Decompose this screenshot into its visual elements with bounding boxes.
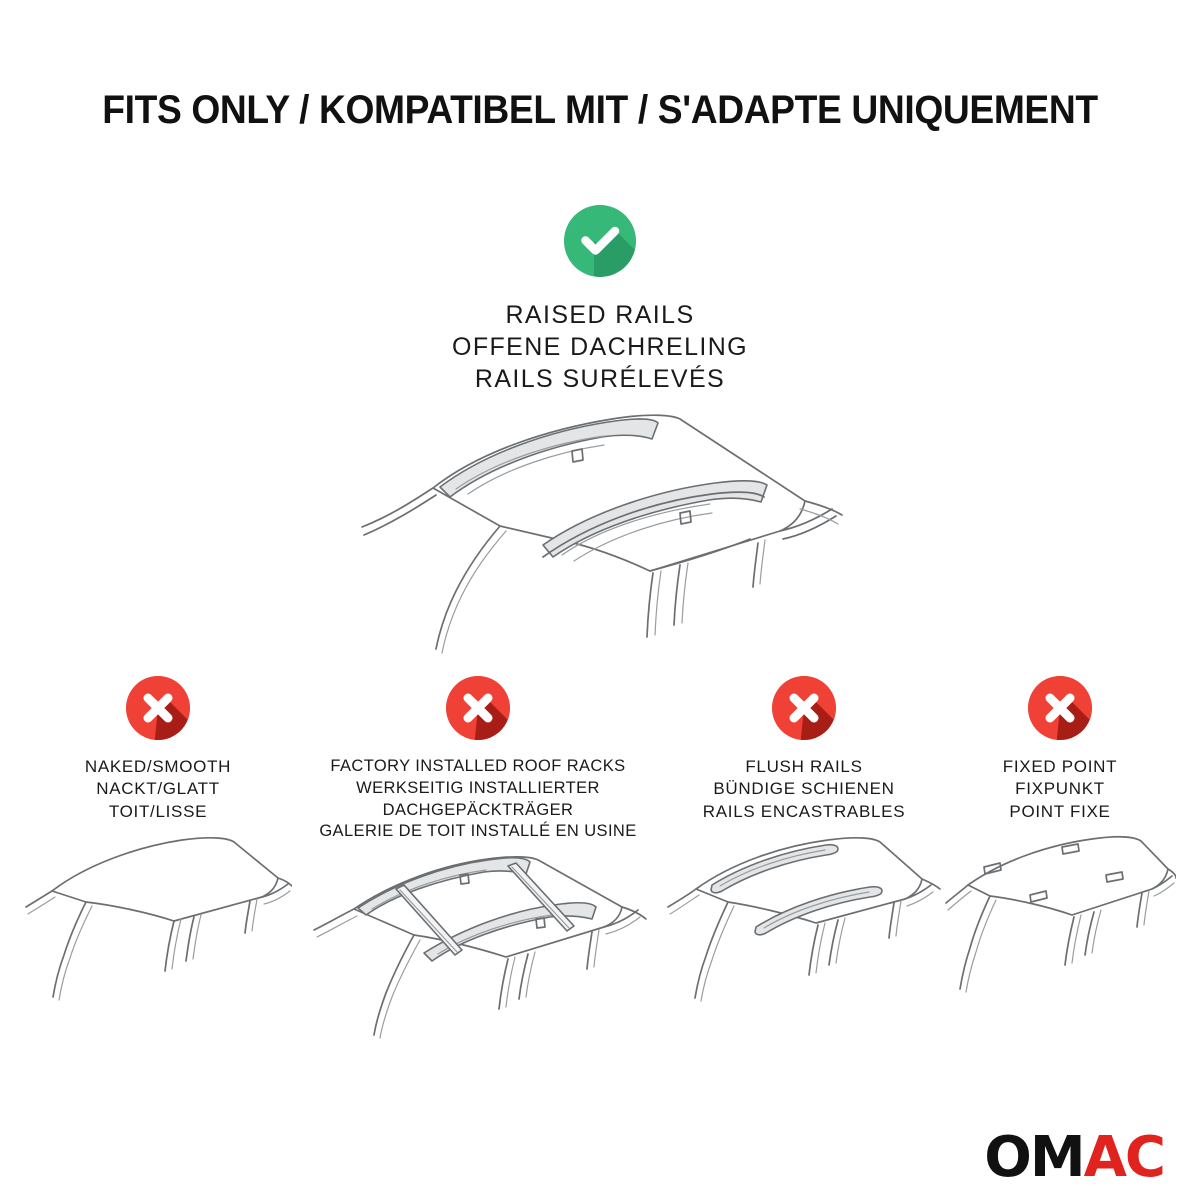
- car-roof-naked-illustration: [24, 833, 292, 1023]
- incompatible-item-flush-rails: FLUSH RAILS BÜNDIGE SCHIENEN RAILS ENCAS…: [664, 676, 944, 1023]
- label-line-1: FIXED POINT: [1003, 756, 1117, 778]
- label-line-3: DACHGEPÄCKTRÄGER: [319, 800, 636, 822]
- label-line-2: BÜNDIGE SCHIENEN: [703, 778, 906, 800]
- incompatible-item-fixed-point: FIXED POINT FIXPUNKT POINT FIXE: [944, 676, 1176, 1023]
- car-roof-flush-rails-illustration: [664, 833, 944, 1023]
- incompatible-item-factory-installed-roof-racks: FACTORY INSTALLED ROOF RACKS WERKSEITIG …: [292, 676, 664, 1043]
- label-line-1: FLUSH RAILS: [703, 756, 906, 778]
- incompatible-label-factory-installed-roof-racks: FACTORY INSTALLED ROOF RACKS WERKSEITIG …: [319, 756, 636, 843]
- label-line-2: NACKT/GLATT: [85, 778, 231, 800]
- car-roof-fixed-point-illustration: [944, 833, 1176, 1023]
- x-circle-icon: [772, 676, 836, 740]
- label-line-3: POINT FIXE: [1003, 801, 1117, 823]
- logo-text-om: OM: [984, 1125, 1083, 1190]
- incompatible-label-naked-smooth: NAKED/SMOOTH NACKT/GLATT TOIT/LISSE: [85, 756, 231, 823]
- label-line-2: FIXPUNKT: [1003, 778, 1117, 800]
- label-line-1: NAKED/SMOOTH: [85, 756, 231, 778]
- car-roof-factory-racks-illustration: [292, 853, 664, 1043]
- incompatible-label-fixed-point: FIXED POINT FIXPUNKT POINT FIXE: [1003, 756, 1117, 823]
- compatible-label-line-1: RAISED RAILS: [452, 299, 748, 331]
- omac-logo: OMAC: [984, 1130, 1164, 1186]
- x-circle-icon: [126, 676, 190, 740]
- compatible-section: RAISED RAILS OFFENE DACHRELING RAILS SUR…: [0, 205, 1200, 395]
- label-line-3: TOIT/LISSE: [85, 801, 231, 823]
- label-line-3: RAILS ENCASTRABLES: [703, 801, 906, 823]
- logo-text-ac: AC: [1084, 1125, 1164, 1190]
- x-circle-icon: [446, 676, 510, 740]
- x-circle-icon: [1028, 676, 1092, 740]
- compatible-label: RAISED RAILS OFFENE DACHRELING RAILS SUR…: [452, 299, 748, 395]
- incompatible-item-naked-smooth: NAKED/SMOOTH NACKT/GLATT TOIT/LISSE: [24, 676, 292, 1023]
- infographic-page: FITS ONLY / KOMPATIBEL MIT / S'ADAPTE UN…: [0, 0, 1200, 1200]
- incompatible-label-flush-rails: FLUSH RAILS BÜNDIGE SCHIENEN RAILS ENCAS…: [703, 756, 906, 823]
- car-roof-raised-rails-illustration: [350, 405, 850, 670]
- check-circle-icon: [564, 205, 636, 277]
- page-title: FITS ONLY / KOMPATIBEL MIT / S'ADAPTE UN…: [42, 88, 1158, 133]
- incompatible-section: NAKED/SMOOTH NACKT/GLATT TOIT/LISSE: [0, 676, 1200, 1043]
- compatible-label-line-3: RAILS SURÉLEVÉS: [452, 363, 748, 395]
- compatible-label-line-2: OFFENE DACHRELING: [452, 331, 748, 363]
- label-line-1: FACTORY INSTALLED ROOF RACKS: [319, 756, 636, 778]
- label-line-4: GALERIE DE TOIT INSTALLÉ EN USINE: [319, 821, 636, 843]
- label-line-2: WERKSEITIG INSTALLIERTER: [319, 778, 636, 800]
